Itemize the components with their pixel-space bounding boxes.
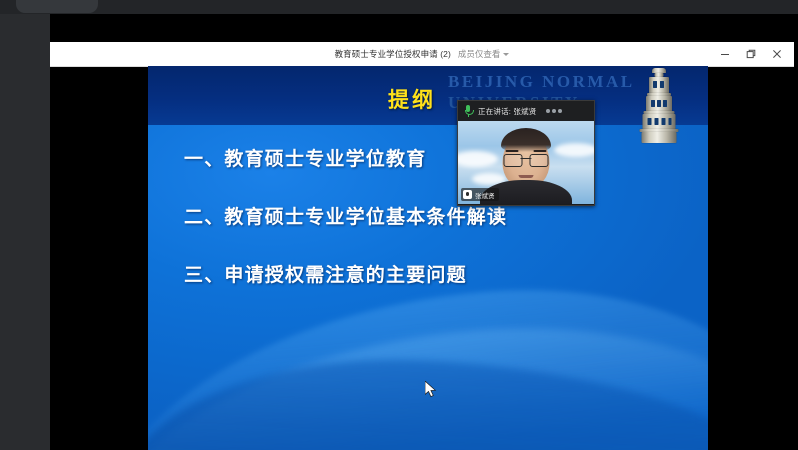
speaking-status-label: 正在讲话: 张斌贤 (478, 106, 536, 117)
speaker-mouth (519, 175, 534, 178)
watermark-line-1: BEIJING NORMAL (448, 72, 635, 92)
close-button[interactable] (764, 43, 790, 65)
desktop-left-gutter (0, 14, 50, 450)
participant-name: 张斌贤 (475, 190, 495, 200)
close-icon (772, 49, 782, 59)
presentation-slide[interactable]: BEIJING NORMAL UNIVERSITY 提纲 (148, 66, 708, 450)
window-titlebar: 教育硕士专业学位授权申请 (2) 成员仅查看 (50, 42, 794, 67)
bullet-item-3: 三、申请授权需注意的主要问题 (184, 260, 684, 287)
outer-window-tab[interactable] (16, 0, 98, 13)
minimize-button[interactable] (712, 43, 738, 65)
speaker-video-overlay[interactable]: 正在讲话: 张斌贤 张斌贤 (457, 100, 595, 206)
speaker-hair (501, 128, 551, 152)
permission-label: 成员仅查看 (458, 50, 501, 59)
slide-title: 提纲 (388, 84, 436, 114)
window-controls (712, 42, 790, 66)
permission-dropdown[interactable]: 成员仅查看 (458, 50, 510, 59)
screen-capture: 教育硕士专业学位授权申请 (2) 成员仅查看 (0, 0, 798, 450)
audio-level-indicator (546, 109, 562, 113)
bullet-item-2: 二、教育硕士专业学位基本条件解读 (184, 202, 684, 229)
microphone-icon (464, 105, 472, 117)
slide-bullet-list: 一、教育硕士专业学位教育 二、教育硕士专业学位基本条件解读 三、申请授权需注意的… (184, 144, 684, 287)
pagoda-tower-icon (636, 68, 682, 146)
restore-icon (746, 49, 756, 59)
participant-name-badge: 张斌贤 (461, 188, 499, 201)
video-feed: 张斌贤 (458, 121, 594, 204)
speaker-glasses (504, 154, 549, 166)
speaker-status-bar: 正在讲话: 张斌贤 (458, 101, 594, 121)
titlebar-center-group: 教育硕士专业学位授权申请 (2) 成员仅查看 (335, 50, 510, 59)
document-title: 教育硕士专业学位授权申请 (2) (335, 50, 451, 59)
bullet-item-1: 一、教育硕士专业学位教育 (184, 144, 684, 171)
restore-button[interactable] (738, 43, 764, 65)
outer-window-chrome (0, 0, 798, 14)
chevron-down-icon (503, 53, 509, 56)
minimize-icon (720, 49, 730, 59)
mic-badge-icon (463, 190, 472, 199)
